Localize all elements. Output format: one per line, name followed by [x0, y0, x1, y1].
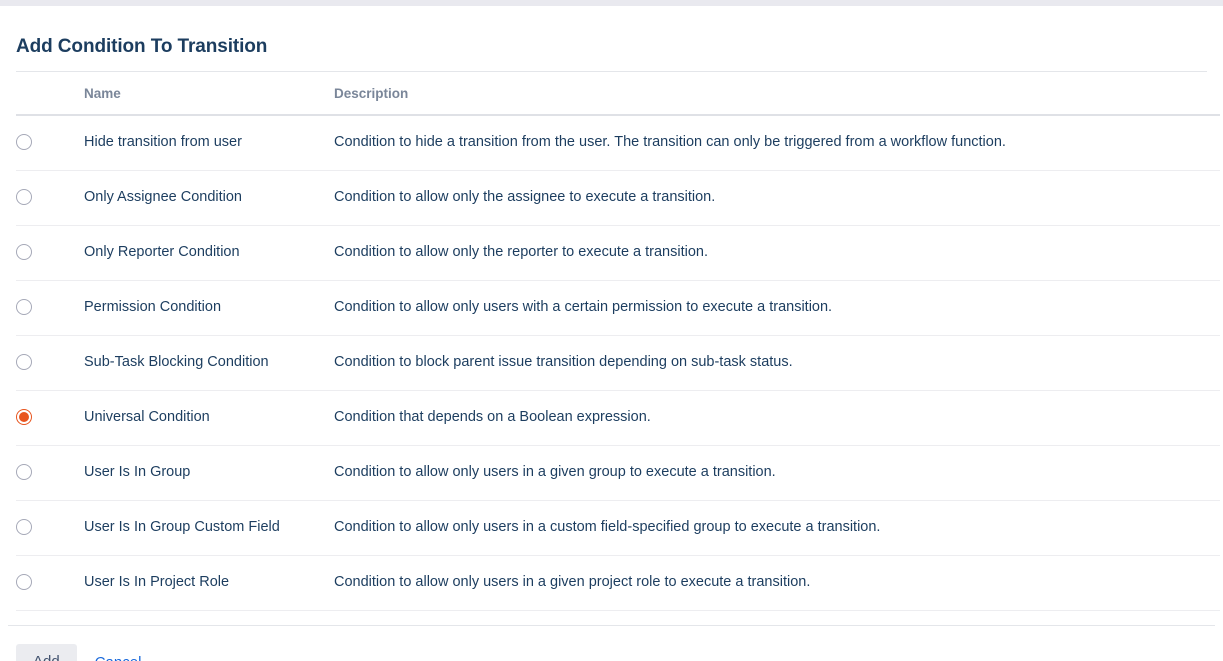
- table-row[interactable]: Only Assignee Condition Condition to all…: [16, 171, 1220, 226]
- condition-description: Condition to allow only users with a cer…: [334, 281, 1220, 336]
- condition-name: User Is In Group: [84, 446, 334, 501]
- table-row[interactable]: Sub-Task Blocking Condition Condition to…: [16, 336, 1220, 391]
- row-radio-cell[interactable]: [16, 501, 84, 556]
- condition-description: Condition to allow only the reporter to …: [334, 226, 1220, 281]
- add-condition-page: Add Condition To Transition Name Descrip…: [0, 19, 1223, 661]
- cancel-link[interactable]: Cancel: [93, 652, 144, 661]
- condition-radio[interactable]: [16, 354, 32, 370]
- condition-name: Hide transition from user: [84, 115, 334, 171]
- row-radio-cell[interactable]: [16, 115, 84, 171]
- column-header-description: Description: [334, 72, 1220, 115]
- condition-radio[interactable]: [16, 134, 32, 150]
- table-body: Hide transition from user Condition to h…: [16, 115, 1220, 611]
- condition-radio[interactable]: [16, 519, 32, 535]
- condition-name: Only Reporter Condition: [84, 226, 334, 281]
- table-row[interactable]: User Is In Project Role Condition to all…: [16, 556, 1220, 611]
- table-header: Name Description: [16, 72, 1220, 115]
- condition-description: Condition to allow only users in a given…: [334, 446, 1220, 501]
- top-decorative-band: [0, 0, 1223, 6]
- row-radio-cell[interactable]: [16, 446, 84, 501]
- condition-description: Condition to allow only users in a given…: [334, 556, 1220, 611]
- condition-description: Condition to allow only users in a custo…: [334, 501, 1220, 556]
- table-row[interactable]: User Is In Group Condition to allow only…: [16, 446, 1220, 501]
- condition-name: Sub-Task Blocking Condition: [84, 336, 334, 391]
- condition-radio[interactable]: [16, 464, 32, 480]
- condition-radio-selected[interactable]: [16, 409, 32, 425]
- column-header-name: Name: [84, 72, 334, 115]
- table-header-row: Name Description: [16, 72, 1220, 115]
- row-radio-cell[interactable]: [16, 336, 84, 391]
- condition-description: Condition to hide a transition from the …: [334, 115, 1220, 171]
- condition-radio[interactable]: [16, 244, 32, 260]
- condition-name: User Is In Group Custom Field: [84, 501, 334, 556]
- add-button[interactable]: Add: [16, 644, 77, 661]
- form-actions: Add Cancel: [0, 626, 1223, 661]
- row-radio-cell[interactable]: [16, 391, 84, 446]
- row-radio-cell[interactable]: [16, 226, 84, 281]
- row-radio-cell[interactable]: [16, 171, 84, 226]
- table-row[interactable]: Hide transition from user Condition to h…: [16, 115, 1220, 171]
- condition-radio[interactable]: [16, 189, 32, 205]
- conditions-table: Name Description Hide transition from us…: [16, 72, 1220, 611]
- row-radio-cell[interactable]: [16, 556, 84, 611]
- condition-name: User Is In Project Role: [84, 556, 334, 611]
- condition-radio[interactable]: [16, 299, 32, 315]
- condition-description: Condition to block parent issue transiti…: [334, 336, 1220, 391]
- condition-description: Condition to allow only the assignee to …: [334, 171, 1220, 226]
- condition-name: Permission Condition: [84, 281, 334, 336]
- table-row[interactable]: Permission Condition Condition to allow …: [16, 281, 1220, 336]
- row-radio-cell[interactable]: [16, 281, 84, 336]
- table-row[interactable]: Only Reporter Condition Condition to all…: [16, 226, 1220, 281]
- condition-radio[interactable]: [16, 574, 32, 590]
- column-header-select: [16, 72, 84, 115]
- condition-name: Only Assignee Condition: [84, 171, 334, 226]
- condition-name: Universal Condition: [84, 391, 334, 446]
- page-title: Add Condition To Transition: [0, 19, 1223, 59]
- table-row[interactable]: User Is In Group Custom Field Condition …: [16, 501, 1220, 556]
- condition-description: Condition that depends on a Boolean expr…: [334, 391, 1220, 446]
- table-row[interactable]: Universal Condition Condition that depen…: [16, 391, 1220, 446]
